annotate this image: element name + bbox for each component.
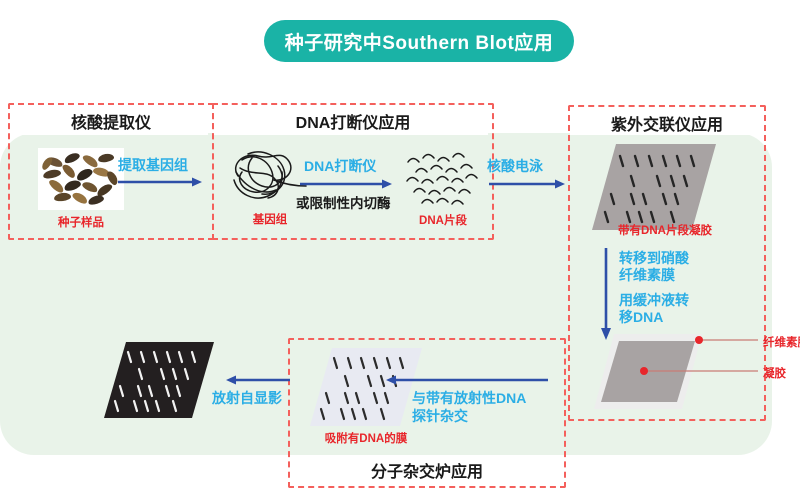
- arrow-hybridization: [386, 374, 548, 386]
- page-title-text: 种子研究中Southern Blot应用: [285, 28, 554, 55]
- gel-membrane-callouts: [592, 333, 772, 411]
- callout-nitrocellulose-membrane: 纤维素膜: [763, 334, 800, 350]
- arrow-label-transfer-line-3: 用缓冲液转: [619, 292, 689, 309]
- arrow-electrophoresis: [489, 178, 565, 190]
- autoradiograph-film-illustration: [102, 340, 216, 422]
- arrow-label-transfer-line-2: 纤维素膜: [619, 267, 675, 284]
- arrow-label-transfer-line-4: 移DNA: [619, 309, 663, 326]
- membrane-with-dna-illustration: [308, 346, 424, 430]
- arrow-label-transfer-line-1: 转移到硝酸: [619, 250, 689, 267]
- arrow-label-autoradiography: 放射自显影: [212, 390, 282, 407]
- arrow-transfer-to-membrane: [599, 248, 613, 340]
- arrow-extract-genome: [118, 176, 202, 188]
- section-1-title: 核酸提取仪: [10, 109, 212, 133]
- section-2-title: DNA打断仪应用: [214, 109, 492, 133]
- seed-sample-caption: 种子样品: [38, 214, 124, 230]
- callout-gel: 凝胶: [763, 365, 786, 381]
- arrow-dna-shearer: [300, 178, 392, 190]
- section-4-title: 分子杂交炉应用: [290, 458, 564, 482]
- dna-fragments-illustration: [404, 150, 482, 212]
- gel-with-dna-caption: 带有DNA片段凝胶: [575, 222, 755, 238]
- page-title: 种子研究中Southern Blot应用: [264, 20, 574, 62]
- diagram-canvas: 种子研究中Southern Blot应用 核酸提取仪 DNA打断仪应用 紫外交联…: [0, 0, 800, 504]
- arrow-autoradiography: [226, 374, 290, 386]
- arrow-label-extract-genome: 提取基因组: [118, 157, 188, 174]
- gel-with-dna-illustration: [590, 142, 718, 234]
- section-3-title: 紫外交联仪应用: [570, 111, 764, 135]
- arrow-label-hybridize-line-2: 探针杂交: [412, 408, 468, 425]
- seed-sample-image: [38, 148, 124, 210]
- arrow-label-electrophoresis: 核酸电泳: [487, 158, 543, 175]
- membrane-with-dna-caption: 吸附有DNA的膜: [296, 430, 436, 446]
- arrow-label-dna-shearer: DNA打断仪: [304, 158, 376, 175]
- arrow-label-hybridize-line-1: 与带有放射性DNA: [412, 390, 526, 407]
- dna-fragments-caption: DNA片段: [402, 212, 484, 228]
- genome-caption: 基因组: [228, 211, 312, 227]
- arrow-sublabel-restriction-enzyme: 或限制性内切酶: [296, 192, 391, 212]
